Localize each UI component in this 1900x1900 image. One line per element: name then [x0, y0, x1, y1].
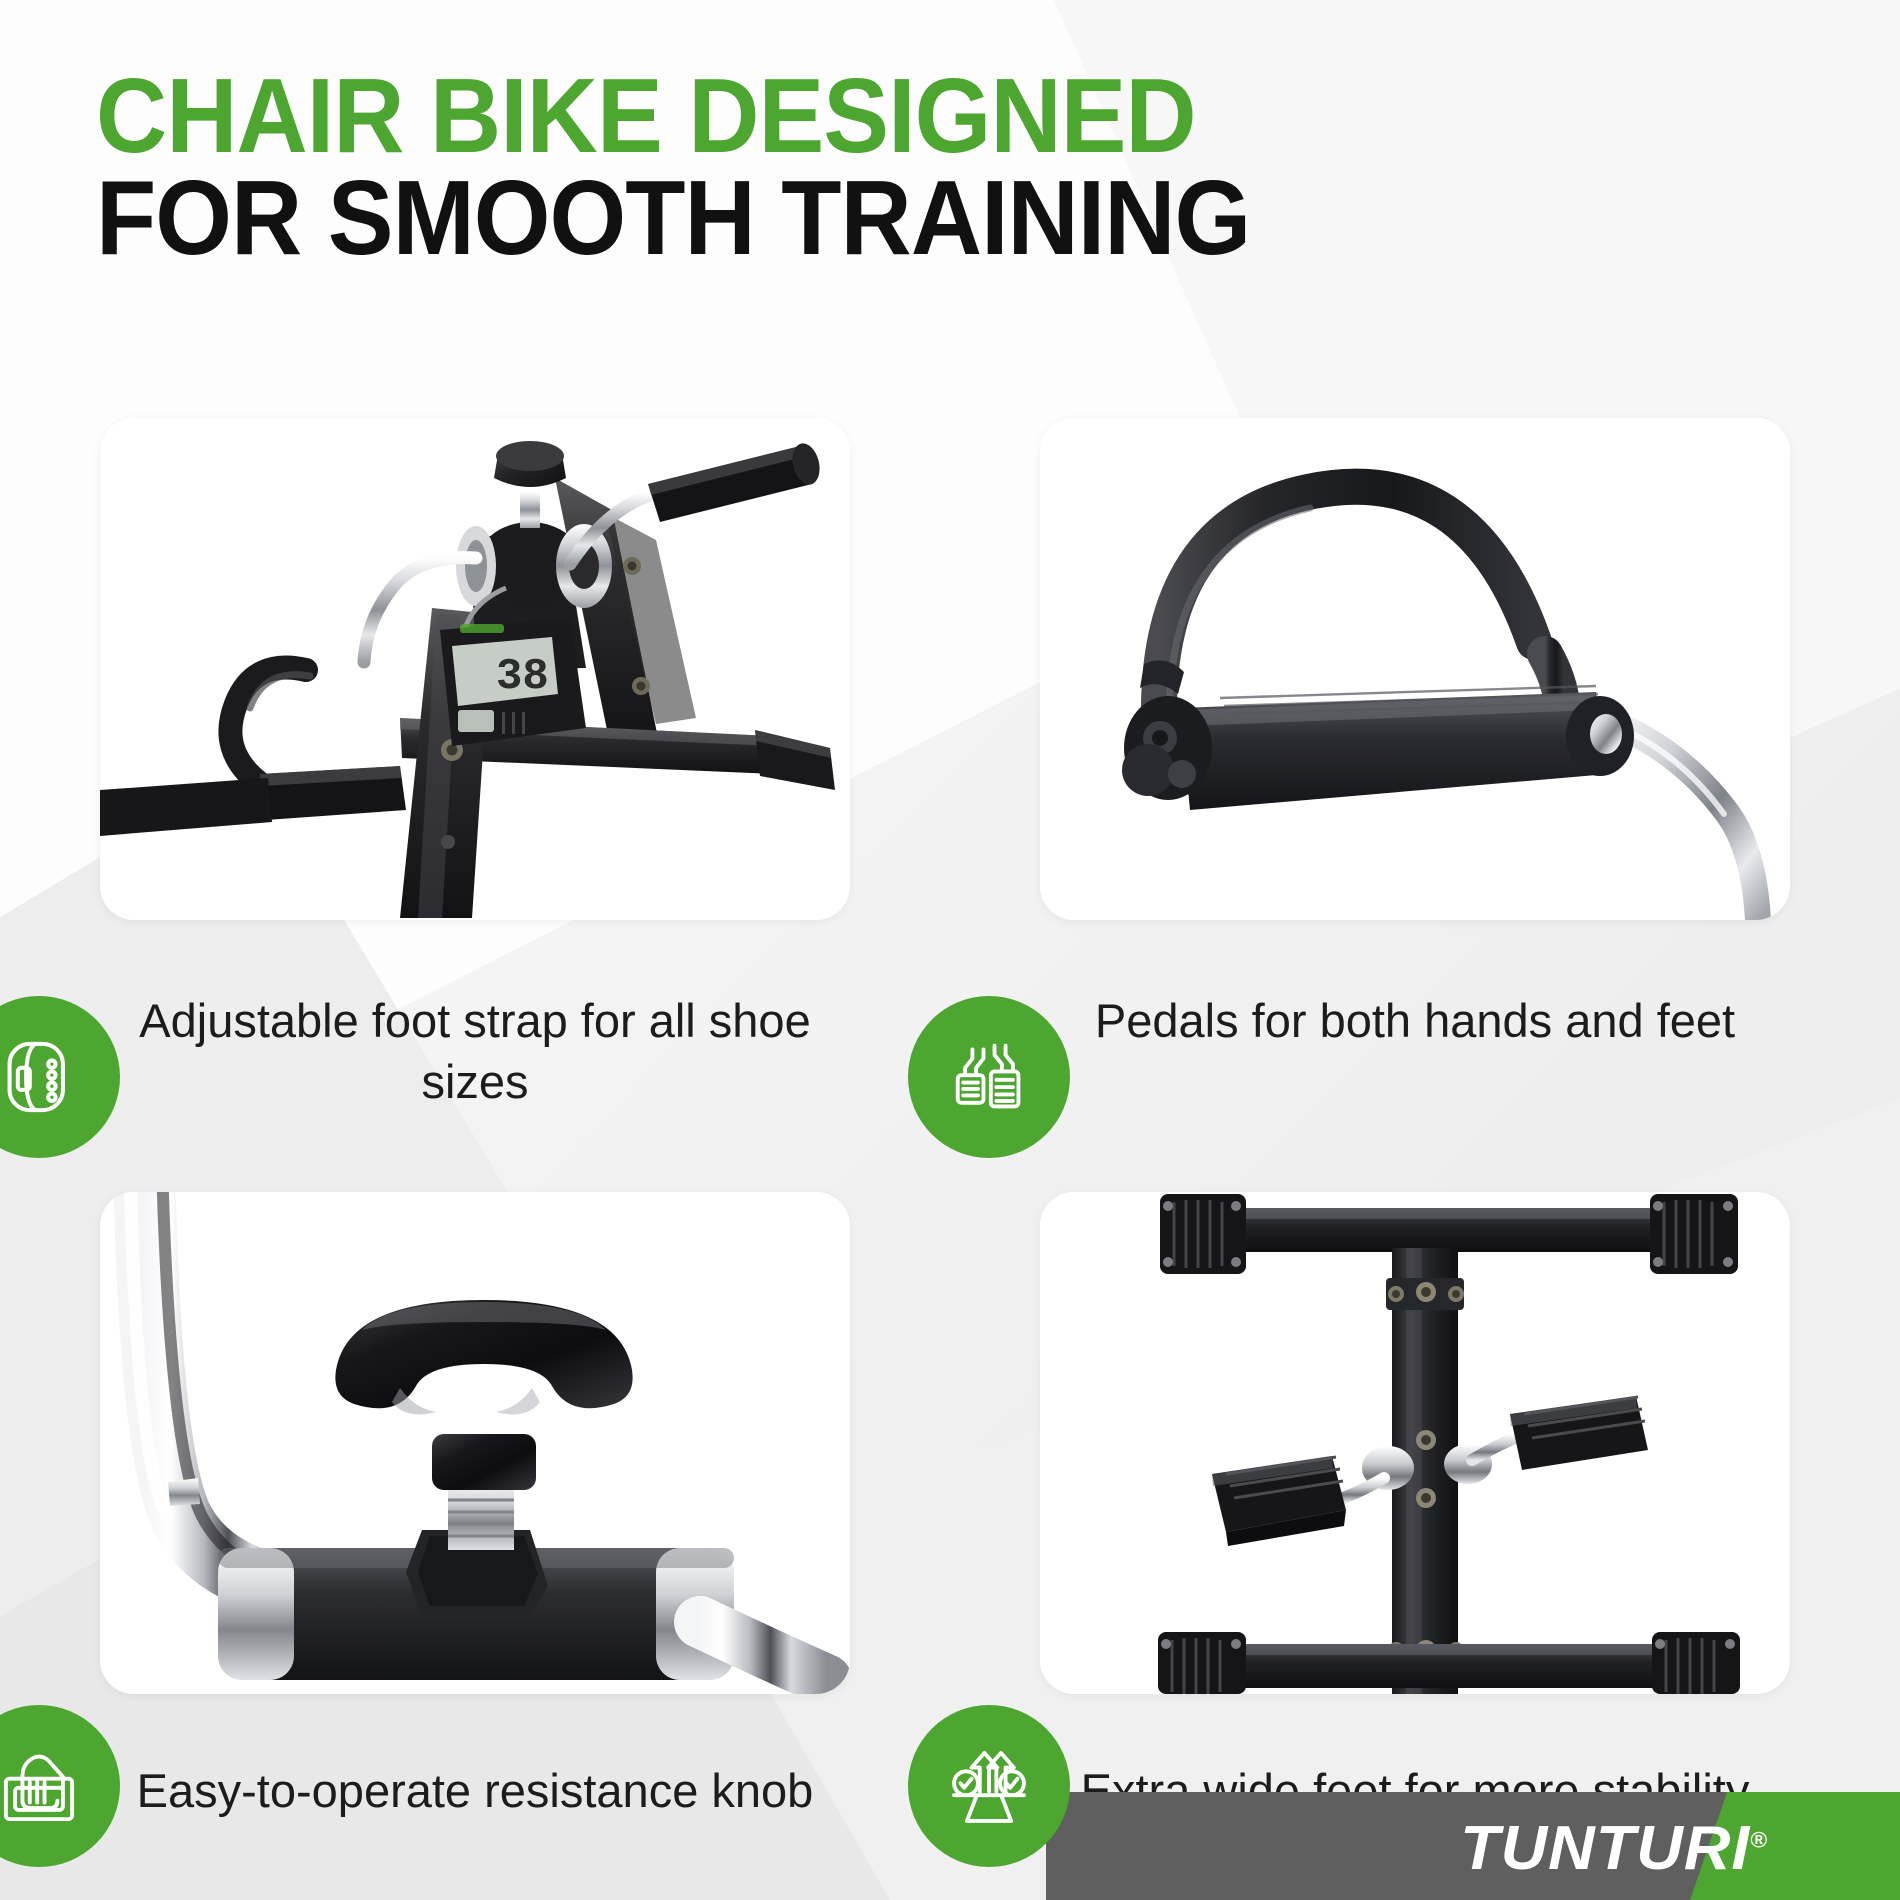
feature-grid: 38 [0, 418, 1900, 1821]
hand-turning-knob-icon [0, 1740, 85, 1832]
console-display-value: 38 [496, 652, 549, 702]
feature-caption-pedals-hands-feet: Pedals for both hands and feet [1040, 990, 1790, 1051]
registered-trademark-symbol: ® [1750, 1827, 1768, 1852]
feature-badge-extra-wide-feet [908, 1705, 1070, 1867]
feature-caption-adjustable-foot-strap: Adjustable foot strap for all shoe sizes [100, 990, 850, 1112]
foot-strap-icon [0, 1031, 85, 1123]
feature-card-pedals-hands-feet: Pedals for both hands and feet [950, 418, 1900, 1112]
brand-logo-band: TUNTURI® [1046, 1792, 1900, 1900]
photo-illustration-pedal-strap [1040, 418, 1790, 920]
photo-illustration-resistance-knob [100, 1192, 850, 1694]
feature-caption-resistance-knob: Easy-to-operate resistance knob [100, 1760, 850, 1821]
feature-photo-pedals-hands-feet [1040, 418, 1790, 920]
stability-balance-icon [943, 1740, 1035, 1832]
brand-name: TUNTURI [1460, 1814, 1750, 1883]
headline-line-1: CHAIR BIKE DESIGNED [96, 66, 1547, 168]
photo-illustration-wide-feet [1040, 1192, 1790, 1694]
headline: CHAIR BIKE DESIGNED FOR SMOOTH TRAINING [96, 66, 1656, 270]
photo-illustration-pedal-exerciser: 38 [100, 418, 850, 920]
feature-photo-adjustable-foot-strap: 38 [100, 418, 850, 920]
feature-card-adjustable-foot-strap: 38 [0, 418, 950, 1112]
feature-card-extra-wide-feet: Extra wide feet for more stability [950, 1192, 1900, 1821]
headline-line-2: FOR SMOOTH TRAINING [96, 168, 1547, 270]
infographic-canvas: CHAIR BIKE DESIGNED FOR SMOOTH TRAINING [0, 0, 1900, 1900]
feature-photo-resistance-knob [100, 1192, 850, 1694]
feature-photo-extra-wide-feet [1040, 1192, 1790, 1694]
feature-badge-pedals-hands-feet [908, 996, 1070, 1158]
brand-logo-tunturi: TUNTURI® [1460, 1813, 1768, 1884]
feature-row-1: 38 [0, 418, 1900, 1112]
feature-row-2: Easy-to-operate resistance knob [0, 1192, 1900, 1821]
feature-card-resistance-knob: Easy-to-operate resistance knob [0, 1192, 950, 1821]
dual-pedals-icon [943, 1031, 1035, 1123]
